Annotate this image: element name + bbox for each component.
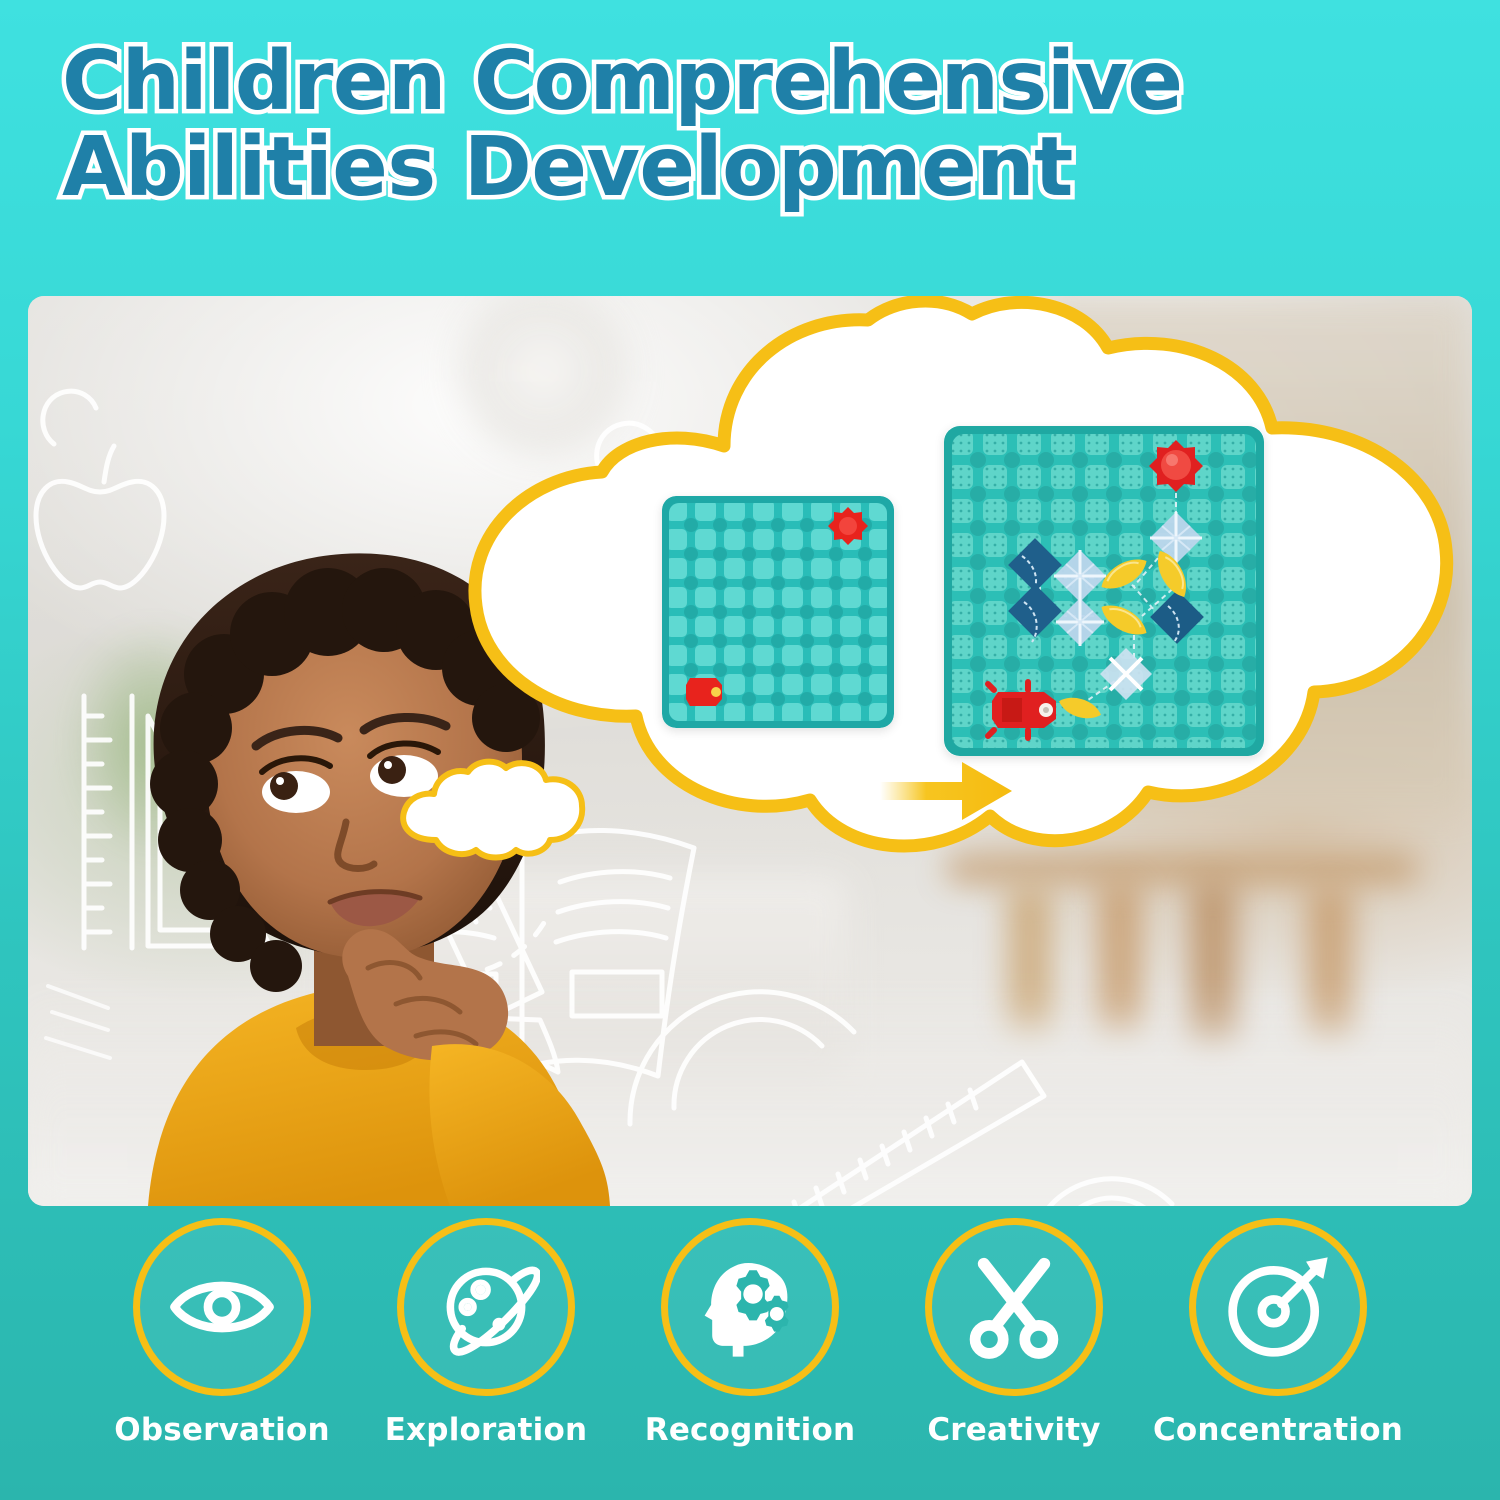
puzzle-board-after (944, 426, 1264, 756)
feature-circle-exploration (397, 1218, 575, 1396)
hero-photo-panel (28, 296, 1472, 1206)
headline-line-2: Abilities Development (62, 128, 1402, 208)
page-title: Children Comprehensive Abilities Develop… (62, 42, 1402, 209)
feature-concentration[interactable]: Concentration (1172, 1218, 1384, 1468)
feature-circle-recognition (661, 1218, 839, 1396)
feature-observation[interactable]: Observation (116, 1218, 328, 1468)
feature-recognition[interactable]: Recognition (644, 1218, 856, 1468)
feature-icons-row: Observation (0, 1218, 1500, 1468)
planet-icon (432, 1253, 540, 1361)
laser-target-piece (828, 507, 868, 545)
laser-target-piece (1149, 440, 1203, 492)
protractor-doodle-1 (630, 992, 1044, 1206)
protractor-doodle-2 (1020, 1179, 1236, 1206)
feature-label-exploration: Exploration (385, 1412, 588, 1448)
child-arm (429, 1044, 610, 1206)
eye-icon (168, 1253, 276, 1361)
feature-label-creativity: Creativity (927, 1412, 1100, 1448)
transform-arrow (876, 760, 1016, 822)
scissors-icon (960, 1253, 1068, 1361)
target-arrow-icon (1224, 1253, 1332, 1361)
product-feature-poster: Children Comprehensive Abilities Develop… (0, 0, 1500, 1500)
feature-exploration[interactable]: Exploration (380, 1218, 592, 1468)
feature-label-recognition: Recognition (645, 1412, 855, 1448)
feature-circle-concentration (1189, 1218, 1367, 1396)
feature-label-concentration: Concentration (1153, 1412, 1403, 1448)
feature-circle-creativity (925, 1218, 1103, 1396)
big-thought-bubble (424, 300, 1472, 900)
headline-line-1: Children Comprehensive (62, 42, 1402, 122)
laser-emitter-piece (686, 678, 722, 706)
puzzle-board-before (662, 496, 894, 728)
feature-creativity[interactable]: Creativity (908, 1218, 1120, 1468)
feature-label-observation: Observation (114, 1412, 329, 1448)
feature-circle-observation (133, 1218, 311, 1396)
brain-head-gears-icon (696, 1253, 804, 1361)
